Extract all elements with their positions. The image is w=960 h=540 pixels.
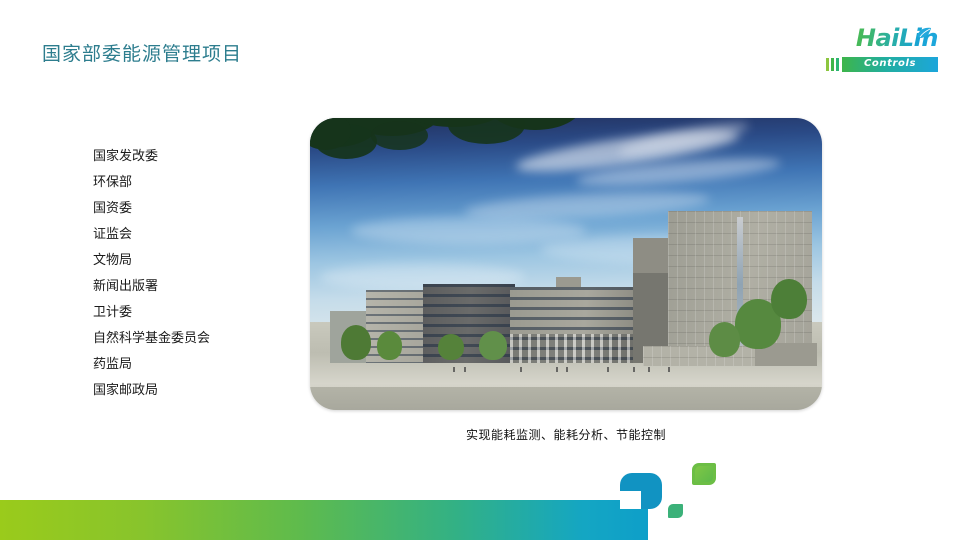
person-figure [520,367,522,372]
photo-content [310,118,822,410]
facade-texture [643,346,756,366]
footer-gradient-bar [0,500,648,540]
tree-shape [438,334,464,360]
person-figure [556,367,558,372]
ground-strip [310,387,822,410]
list-item: 药监局 [93,352,293,378]
logo-bars-icon [826,58,839,71]
page-title: 国家部委能源管理项目 [42,41,242,67]
logo-subtitle-banner: Controls [842,57,938,72]
footer-deco-green-square-small [668,504,683,518]
person-figure [464,367,466,372]
foreground-tree-canopy [371,121,427,150]
person-figure [566,367,568,372]
footer-deco-blue-square [620,473,662,509]
list-item: 证监会 [93,222,293,248]
person-figure [607,367,609,372]
list-item: 卫计委 [93,300,293,326]
tree-shape [479,331,507,360]
leaf-icon [917,27,932,39]
list-item: 国资委 [93,196,293,222]
brand-logo: HaiLin Controls [826,26,938,72]
person-figure [453,367,455,372]
building-podium [643,346,756,366]
list-item: 文物局 [93,248,293,274]
list-item: 国家邮政局 [93,378,293,404]
list-item: 国家发改委 [93,144,293,170]
logo-subtitle-text: Controls [864,59,916,69]
tree-shape [377,331,403,360]
building-center [510,287,633,363]
facade-fins [510,334,633,363]
list-item: 环保部 [93,170,293,196]
building-rendering-photo [310,118,822,410]
tree-shape [709,322,740,357]
list-item: 自然科学基金委员会 [93,326,293,352]
agency-list: 国家发改委 环保部 国资委 证监会 文物局 新闻出版署 卫计委 自然科学基金委员… [93,144,293,404]
tree-shape [771,279,807,320]
tree-shape [341,325,372,360]
list-item: 新闻出版署 [93,274,293,300]
person-figure [633,367,635,372]
person-figure [648,367,650,372]
footer-deco-green-square-large [692,463,716,485]
slide-canvas: 国家部委能源管理项目 HaiLin Controls 国家发改委 环保部 国资委… [0,0,960,540]
photo-caption: 实现能耗监测、能耗分析、节能控制 [310,426,822,443]
cloud-shape [351,217,587,243]
person-figure [668,367,670,372]
logo-subtitle-bar: Controls [826,56,938,72]
